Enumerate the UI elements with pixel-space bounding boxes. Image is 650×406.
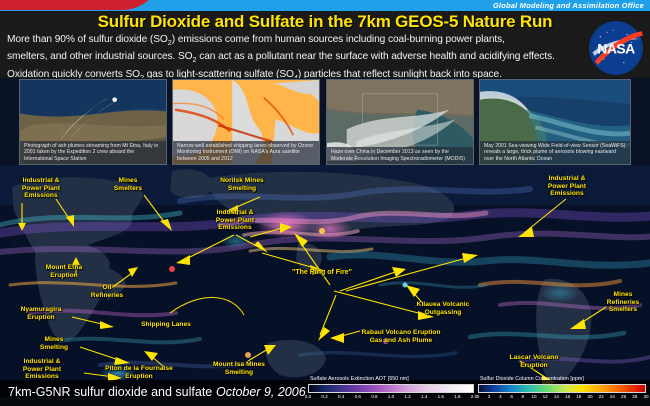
photo-seawifs-atlantic-aerosol: May 2001 Sea-viewing Wide Field-of-view … xyxy=(479,79,631,165)
intro-line-1: More than 90% of sulfur dioxide (SO2) em… xyxy=(7,34,505,45)
map-label-piton-de-la-fournaise-eruption: Piton de la FournaiseEruption xyxy=(84,365,194,380)
colorbar-tick: 0.0 xyxy=(305,394,311,399)
global-so2-sulfate-map: Industrial &Power PlantEmissions MinesSm… xyxy=(0,165,650,406)
colorbar-tick: 4 xyxy=(499,394,502,399)
map-label-nyamuragira-eruption: NyamuragiraEruption xyxy=(2,306,80,321)
intro-line-2: smelters, and other industrial sources. … xyxy=(7,51,555,62)
colorbar-tick: 22 xyxy=(599,394,604,399)
colorbar-tick: 0.6 xyxy=(355,394,361,399)
colorbar-tick: 1.4 xyxy=(421,394,427,399)
map-label-industrial-power-plant-emissions-asia: Industrial &Power PlantEmissions xyxy=(200,209,270,232)
colorbar-tick: 1.8 xyxy=(454,394,460,399)
colorbar-tick: 8 xyxy=(522,394,525,399)
colorbar-tick: 0 xyxy=(477,394,480,399)
colorbar-tick: 0.8 xyxy=(371,394,377,399)
colorbar-tick: 2 xyxy=(488,394,491,399)
map-label-mount-isa-mines-smelting: Mount Isa MinesSmelting xyxy=(196,361,282,376)
colorbar-gradient xyxy=(308,384,474,393)
svg-text:NASA: NASA xyxy=(597,41,635,57)
photo-omi-shipping-lanes: Narrow well established shipping lanes o… xyxy=(172,79,320,165)
colorbar-tick: 24 xyxy=(610,394,615,399)
photo-caption: Haze over China in December 2013 as seen… xyxy=(327,147,473,164)
colorbar-tick: 20 xyxy=(587,394,592,399)
photo-modis-china-haze: Haze over China in December 2013 as seen… xyxy=(326,79,474,165)
colorbar-tick: 18 xyxy=(576,394,581,399)
colorbar-tick: 14 xyxy=(554,394,559,399)
map-label-rabaul-volcano-eruption: Rabaul Volcano EruptionGas and Ash Plume xyxy=(342,329,460,344)
photo-caption: Narrow well established shipping lanes o… xyxy=(173,141,319,164)
colorbar-tick: 6 xyxy=(510,394,513,399)
colorbar-gradient xyxy=(478,384,646,393)
colorbar-tick: 30 xyxy=(643,394,648,399)
colorbar-tick: 26 xyxy=(621,394,626,399)
organization-label: Global Modeling and Assimilation Office xyxy=(493,0,644,11)
colorbar-tick: 16 xyxy=(565,394,570,399)
map-label-ring-of-fire: "The Ring of Fire" xyxy=(292,269,352,276)
run-label: 7km-G5NR sulfur dioxide and sulfate xyxy=(8,385,212,399)
run-date: October 9, 2006 xyxy=(216,385,306,399)
map-label-industrial-power-plant-emissions-na: Industrial &Power PlantEmissions xyxy=(6,177,76,200)
colorbar-ticks: 024681012141618202224262830 xyxy=(478,394,646,403)
colorbar-tick: 12 xyxy=(543,394,548,399)
colorbar-tick: 1.0 xyxy=(388,394,394,399)
map-label-mines-smelting-africa: MinesSmelting xyxy=(24,336,84,351)
map-label-oil-refineries: OilRefineries xyxy=(78,284,136,299)
map-label-norilsk-mines-smelting: Norilsk MinesSmelting xyxy=(205,177,279,192)
colorbar-tick: 28 xyxy=(632,394,637,399)
map-label-kilauea-volcanic-outgassing: Kilauea VolcanicOutgassing xyxy=(398,301,488,316)
map-label-shipping-lanes: Shipping Lanes xyxy=(130,321,202,329)
map-label-industrial-power-plant-emissions-eu: Industrial &Power PlantEmissions xyxy=(532,175,602,198)
header: Global Modeling and Assimilation Office … xyxy=(0,0,650,78)
intro-line-3: Oxidation quickly converts SO2 gas to li… xyxy=(7,69,502,78)
colorbar-ticks: 0.00.20.40.60.81.01.21.41.61.82.0 xyxy=(308,394,474,403)
colorbar-tick: 10 xyxy=(531,394,536,399)
photo-caption: May 2001 Sea-viewing Wide Field-of-view … xyxy=(480,141,630,164)
photo-mt-etna-ash-plume: Photograph of ash plumes streaming from … xyxy=(19,79,167,165)
colorbar-tick: 0.4 xyxy=(338,394,344,399)
page-title: Sulfur Dioxide and Sulfate in the 7km GE… xyxy=(0,12,650,32)
colorbar-tick: 0.2 xyxy=(321,394,327,399)
poster-root: Global Modeling and Assimilation Office … xyxy=(0,0,650,406)
colorbar-tick: 1.6 xyxy=(438,394,444,399)
colorbar-so2-column: Sulfur Dioxide Column Concentration [ppm… xyxy=(478,376,646,406)
map-label-lascar-volcano-eruption: Lascar VolcanoEruption xyxy=(492,354,576,369)
colorbar-title: Sulfate Aerosols Extinction AOT [550 nm] xyxy=(310,376,409,382)
map-label-mines-smelters-na: MinesSmelters xyxy=(98,177,158,192)
colorbar-sulfate-aot: Sulfate Aerosols Extinction AOT [550 nm]… xyxy=(308,376,474,406)
map-label-mines-refineries-smelters: MinesRefineriesSmelters xyxy=(596,291,650,314)
colorbar-tick: 1.2 xyxy=(404,394,410,399)
nasa-logo-icon: NASA xyxy=(588,20,644,76)
colorbar-title: Sulfur Dioxide Column Concentration [ppm… xyxy=(480,376,584,382)
map-label-mount-etna-eruption: Mount EtnaEruption xyxy=(28,264,100,279)
intro-paragraph: More than 90% of sulfur dioxide (SO2) em… xyxy=(7,33,567,78)
map-label-industrial-power-plant-emissions-saf: Industrial &Power PlantEmissions xyxy=(6,358,78,381)
photo-caption: Photograph of ash plumes streaming from … xyxy=(20,141,166,164)
